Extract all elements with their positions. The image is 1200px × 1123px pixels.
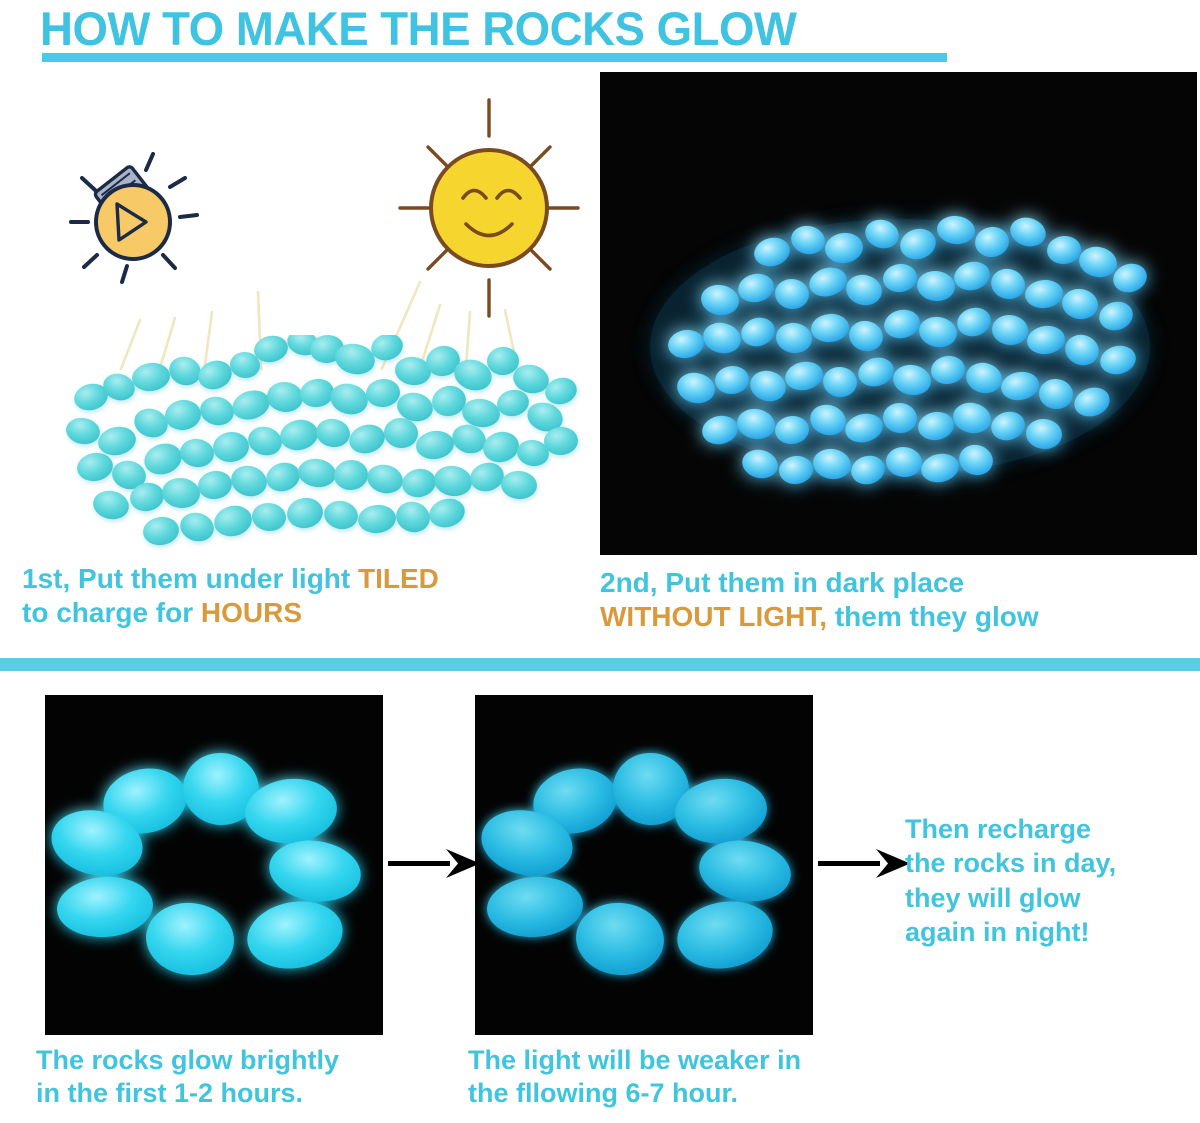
bright-ring-svg [45,695,383,1035]
step-2-caption: 2nd, Put them in dark place WITHOUT LIGH… [600,566,1200,634]
dimmer-pebbles-ring-photo [475,695,813,1035]
section-divider [0,658,1200,671]
step-1-caption: 1st, Put them under light TILED to charg… [22,562,592,630]
arrow-right-icon [388,843,478,883]
glowing-pebble-pile-photo [600,72,1197,555]
weak-phase-caption: The light will be weaker in the fllowing… [468,1044,908,1110]
glowing-pile-svg [600,72,1197,555]
step-2-highlight-without-light: WITHOUT LIGHT, [600,601,827,632]
light-bulb-icon [71,154,197,282]
page-title: HOW TO MAKE THE ROCKS GLOW [40,4,970,54]
illustration-svg [0,70,600,370]
dimmer-ring-svg [475,695,813,1035]
charging-illustration [0,70,600,370]
step-2-line-2-suffix: them they glow [827,601,1039,632]
recharge-line-3: they will glow [905,883,1081,913]
step-1-line-2-prefix: to charge for [22,597,201,628]
bright-phase-caption: The rocks glow brightly in the first 1-2… [36,1044,456,1110]
step-1-line-1-prefix: 1st, Put them under light [22,563,358,594]
pebbles-daylight-svg [55,335,585,560]
title-underline [42,53,947,62]
arrow-shaft-2 [818,861,880,866]
step-2-line-1: 2nd, Put them in dark place [600,567,964,598]
infographic-page: HOW TO MAKE THE ROCKS GLOW [0,0,1200,1123]
step-1-highlight-hours: HOURS [201,597,302,628]
bright-pebbles-ring-photo [45,695,383,1035]
arrow-right-icon-2 [818,843,908,883]
step-1-highlight-tiled: TILED [358,563,439,594]
arrow-shaft [388,861,450,866]
weak-phase-line-2: the fllowing 6-7 hour. [468,1078,738,1108]
recharge-line-2: the rocks in day, [905,848,1116,878]
weak-phase-line-1: The light will be weaker in [468,1045,801,1075]
sun-icon [400,100,578,316]
recharge-line-1: Then recharge [905,814,1091,844]
page-title-text: HOW TO MAKE THE ROCKS GLOW [40,4,942,54]
recharge-caption: Then recharge the rocks in day, they wil… [905,812,1195,949]
bright-phase-line-1: The rocks glow brightly [36,1045,339,1075]
recharge-line-4: again in night! [905,917,1089,947]
bright-phase-line-2: in the first 1-2 hours. [36,1078,303,1108]
pebbles-daylight-photo [55,335,585,560]
